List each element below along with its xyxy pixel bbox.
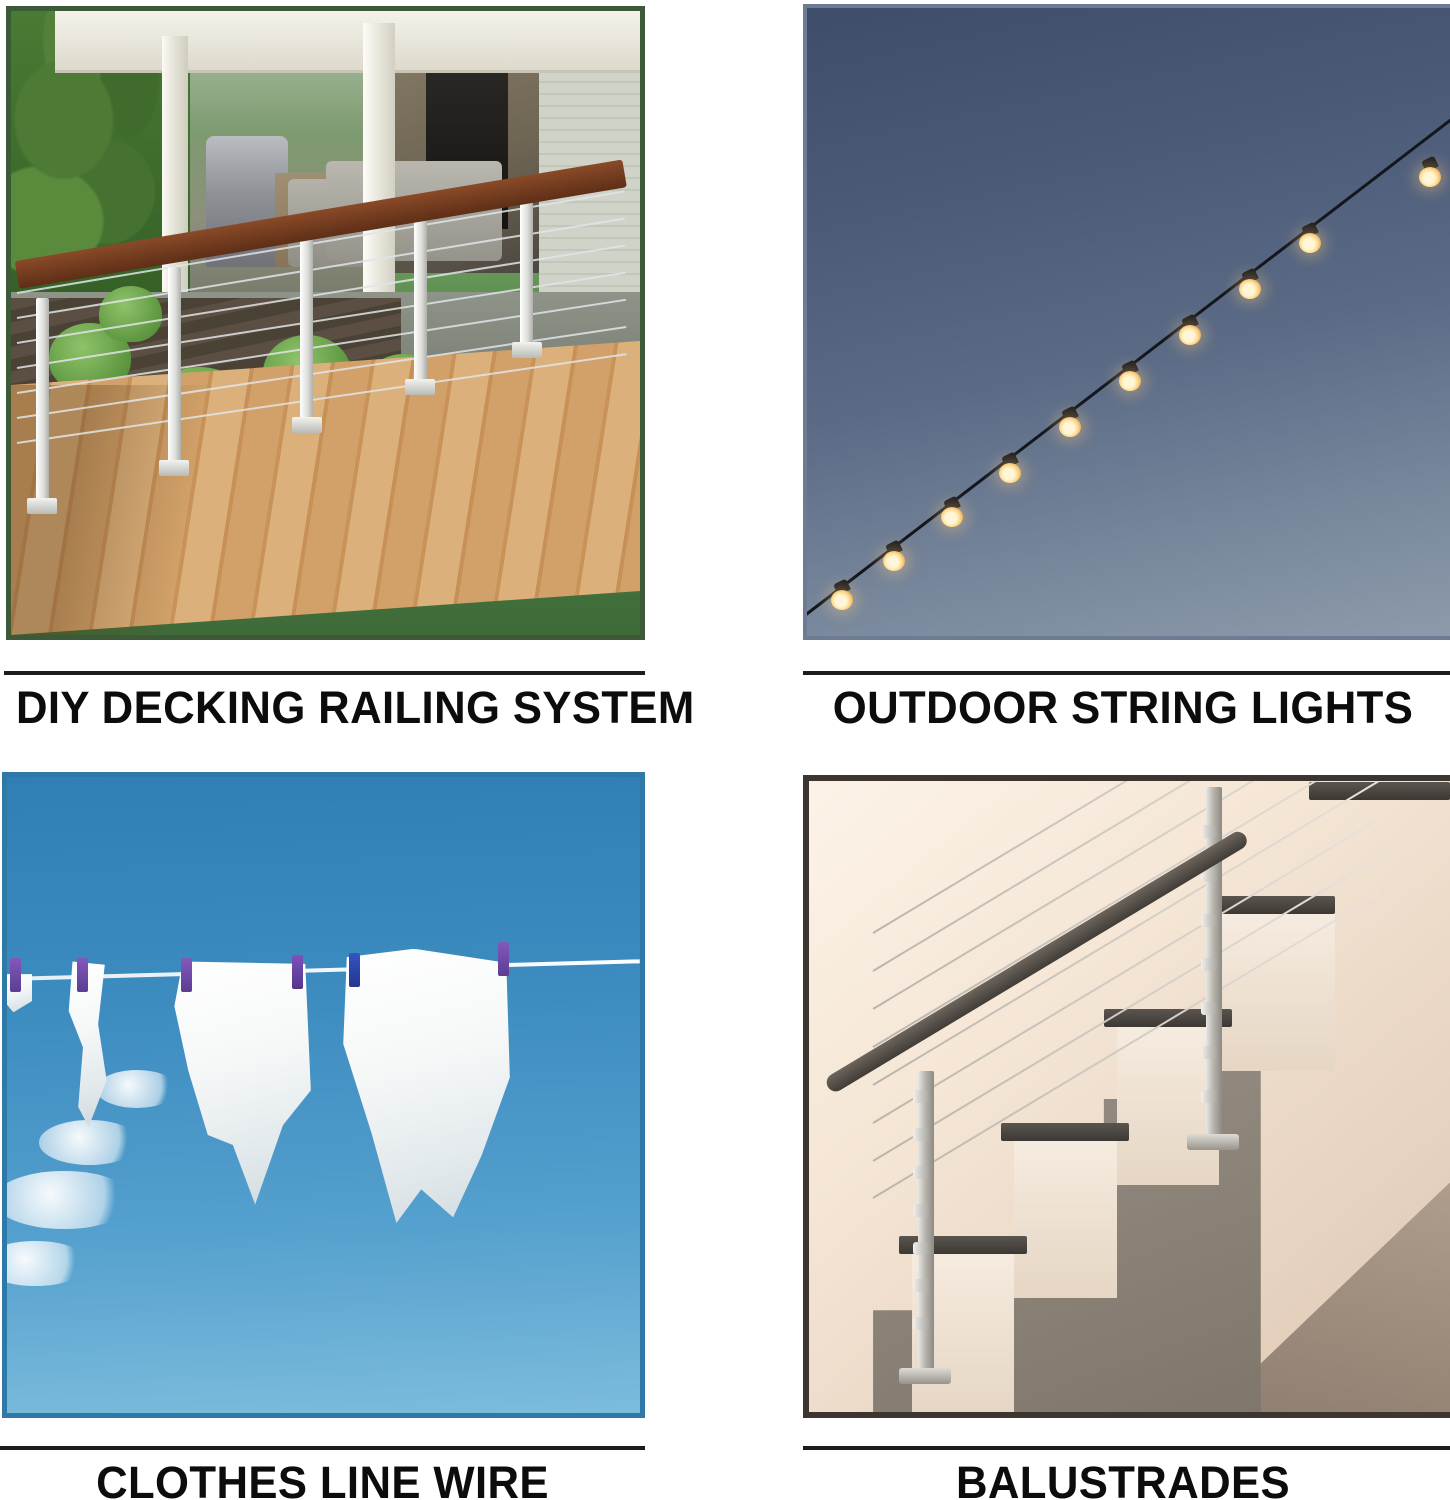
caption-outdoor-string-lights: OUTDOOR STRING LIGHTS <box>813 682 1434 734</box>
cable-fitting <box>1201 1002 1217 1015</box>
product-category-grid: DIY DECKING RAILING SYSTEM OUTDOOR STRIN… <box>0 0 1450 1500</box>
string-lights-photo[interactable] <box>803 4 1450 640</box>
stair-riser <box>1014 1134 1117 1298</box>
caption-balustrades: BALUSTRADES <box>813 1457 1434 1500</box>
bulb-glass <box>941 507 963 527</box>
cable-fitting <box>913 1242 929 1255</box>
clothespin <box>77 958 88 992</box>
cloud <box>96 1070 178 1108</box>
bulb-glass <box>1119 371 1141 391</box>
string-light-bulb <box>1179 316 1201 342</box>
clothes-line-photo[interactable] <box>2 772 645 1418</box>
stair-tread <box>1309 782 1450 800</box>
caption-divider <box>803 1446 1450 1450</box>
bulb-glass <box>999 463 1021 483</box>
balustrade-photo[interactable] <box>803 775 1450 1418</box>
bulb-glass <box>883 551 905 571</box>
string-light-bulb <box>1239 270 1261 296</box>
string-light-bulb <box>999 454 1021 480</box>
cloud <box>2 1171 134 1228</box>
string-light-bulb <box>831 581 853 607</box>
string-light-bulb <box>1299 224 1321 250</box>
cable-fitting <box>913 1128 929 1141</box>
clothespin <box>181 958 192 992</box>
cell-balustrades: BALUSTRADES <box>0 0 647 643</box>
cloud <box>39 1120 140 1165</box>
string-light-bulb <box>1419 158 1441 184</box>
cable-fitting <box>913 1204 929 1217</box>
caption-clothes-line-wire: CLOTHES LINE WIRE <box>10 1457 636 1500</box>
bulb-glass <box>1299 233 1321 253</box>
string-light-bulb <box>883 542 905 568</box>
string-light-bulb <box>1119 362 1141 388</box>
bulb-glass <box>1059 417 1081 437</box>
caption-divider <box>803 671 1450 675</box>
clothespin <box>292 955 303 989</box>
post-base-plate <box>899 1368 951 1384</box>
clothespin <box>349 953 360 987</box>
cable-fitting <box>913 1166 929 1179</box>
cable-fitting <box>1201 825 1217 838</box>
cable-fitting <box>913 1090 929 1103</box>
cable-fitting <box>913 1279 929 1292</box>
stair-tread <box>1001 1123 1129 1141</box>
bulb-glass <box>831 590 853 610</box>
caption-divider <box>0 1446 645 1450</box>
cable-fitting <box>1201 1090 1217 1103</box>
caption-diy-decking-railing-system: DIY DECKING RAILING SYSTEM <box>16 682 695 734</box>
clothespin <box>10 958 21 992</box>
cable-fitting <box>1201 1046 1217 1059</box>
cable-fitting <box>913 1317 929 1330</box>
string-light-bulb <box>941 498 963 524</box>
cable-fitting <box>1201 914 1217 927</box>
bulb-glass <box>1179 325 1201 345</box>
cable-fitting <box>1201 958 1217 971</box>
bulb-glass <box>1239 279 1261 299</box>
caption-divider <box>4 671 645 675</box>
post-base-plate <box>1187 1134 1239 1150</box>
string-light-bulb <box>1059 408 1081 434</box>
bulb-glass <box>1419 167 1441 187</box>
clothespin <box>498 942 509 976</box>
